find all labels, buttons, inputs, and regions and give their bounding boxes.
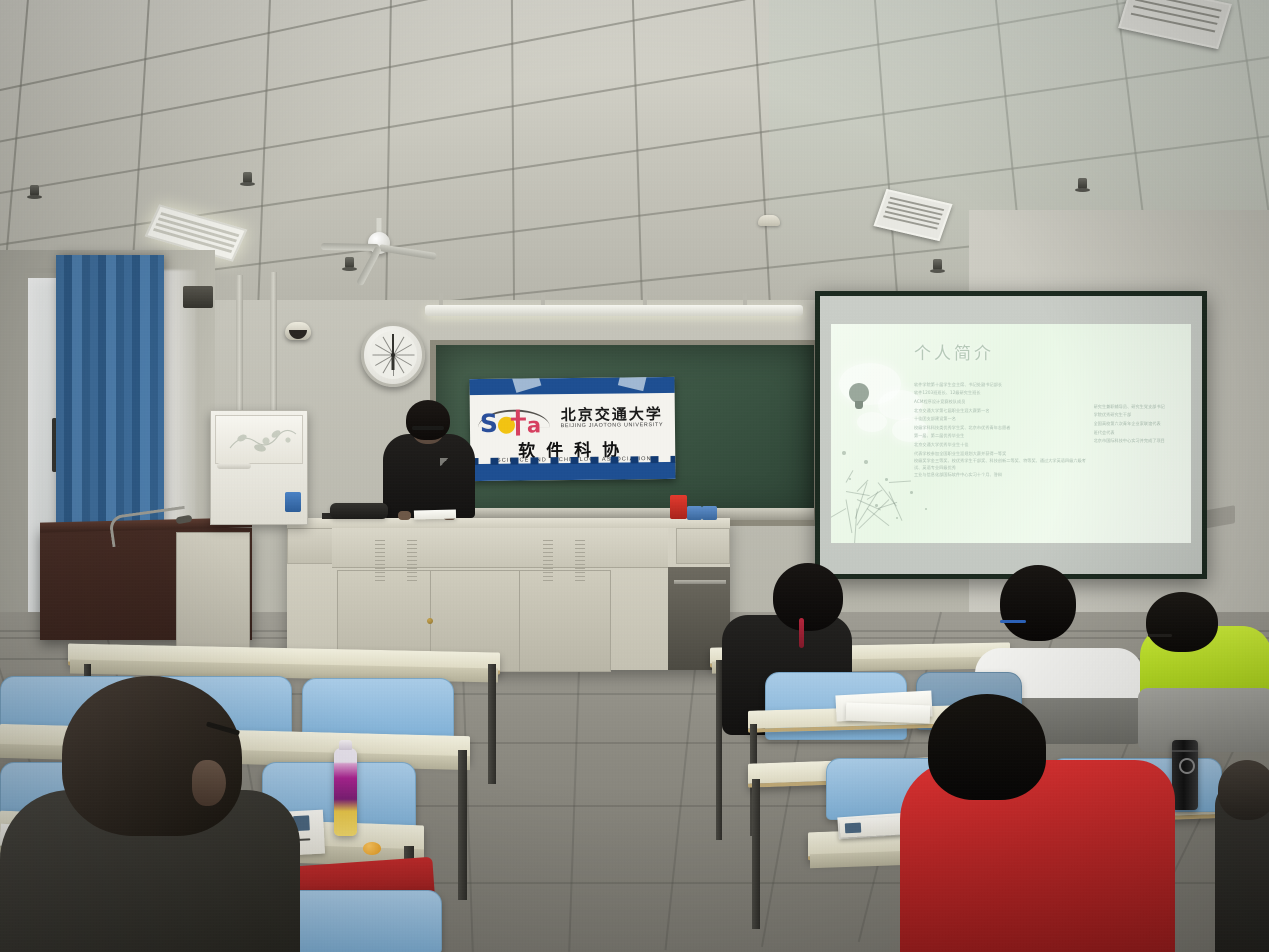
slide-bullet: 第一届、第二届优秀毕业生 bbox=[914, 432, 1086, 441]
slide-bullet: 软件1203班班长、12级研究生班长 bbox=[914, 389, 1086, 398]
bottle-cap bbox=[339, 740, 352, 750]
slide-bullets-right: 研究生兼职辅导员、研究生党支部书记学院优秀研究生干部全国高校第六次青年企业家联谊… bbox=[1094, 403, 1191, 446]
desk-leg bbox=[752, 779, 760, 929]
sota-logo: S a bbox=[480, 408, 546, 437]
podium-drawer[interactable] bbox=[676, 528, 730, 564]
smoke-detector bbox=[758, 215, 780, 226]
slide-bullets-left: 软件学院第十届学生会主席、书记处副书记部长软件1203班班长、12级研究生班长A… bbox=[914, 381, 1086, 480]
lecture-seat[interactable] bbox=[302, 678, 454, 740]
screen-surface: 个人简介 软件学院第十届学生会主席、书记处副书记部长软件1203班班长、12级研… bbox=[820, 296, 1202, 574]
classroom-photo: S a 北京交通大学 BEIJING JIAOTONG UNIVERSITY 软… bbox=[0, 0, 1269, 952]
podium-knob[interactable] bbox=[427, 618, 433, 624]
audience-head bbox=[773, 563, 843, 631]
sota-logo-s: S bbox=[480, 411, 498, 436]
orange-fruit bbox=[363, 842, 381, 855]
audience-head-foreground bbox=[62, 676, 242, 836]
sprinkler-head bbox=[243, 172, 252, 183]
desk-leg bbox=[488, 664, 496, 784]
projection-screen: 个人简介 软件学院第十届学生会主席、书记处副书记部长软件1203班班长、12级研… bbox=[815, 291, 1207, 579]
sprinkler-head bbox=[30, 185, 39, 196]
presenter-torso bbox=[383, 434, 475, 518]
banner-university-en: BEIJING JIAOTONG UNIVERSITY bbox=[552, 422, 672, 429]
slide-bullet: 班代会代表 bbox=[1094, 429, 1191, 438]
slide-bullet: 校级奖学金三等奖、校优秀学生干部奖、科技创新二等奖、特等奖、通过大学英语四级六级… bbox=[914, 458, 1086, 471]
teacher-podium bbox=[287, 518, 730, 670]
drink-bottle bbox=[334, 748, 357, 836]
desk-leg bbox=[458, 750, 467, 900]
slide-bullet: 工业与信息化部国际软件中心实习十个月、答辩 bbox=[914, 471, 1086, 480]
presenter-glasses-icon bbox=[412, 426, 444, 430]
audience-head bbox=[1218, 760, 1269, 820]
wall-pipe bbox=[236, 275, 243, 410]
event-banner: S a 北京交通大学 BEIJING JIAOTONG UNIVERSITY 软… bbox=[469, 377, 675, 481]
dome-camera-icon bbox=[285, 322, 311, 340]
podium-door[interactable] bbox=[519, 570, 611, 672]
slide-bullet: 北京市国际科技中心实习并完成了项目 bbox=[1094, 437, 1191, 446]
sota-logo-a: a bbox=[527, 415, 541, 436]
audience-ear bbox=[192, 760, 226, 806]
slide-bullet: 北京交通大学第七届职业生涯大赛第一名 bbox=[914, 407, 1086, 416]
audience-head bbox=[928, 694, 1046, 800]
slide-bullet: 研究生兼职辅导员、研究生党支部书记 bbox=[1094, 403, 1191, 412]
jacket-logo-icon bbox=[440, 458, 449, 466]
podium-papers bbox=[414, 509, 456, 519]
desk-brochure bbox=[840, 816, 903, 837]
lightbulb-icon bbox=[849, 383, 871, 409]
wall-pipe bbox=[270, 272, 277, 412]
slide-bullet: 十佳团支部建设第一名 bbox=[914, 415, 1086, 424]
wall-speaker-icon bbox=[183, 286, 213, 308]
red-cup bbox=[670, 495, 687, 519]
wall-clock bbox=[361, 323, 425, 387]
audience-glasses-icon bbox=[1148, 634, 1172, 637]
slide-title: 个人简介 bbox=[914, 339, 994, 364]
presenter-hand bbox=[398, 511, 411, 520]
blue-box bbox=[702, 506, 717, 520]
floral-pattern-icon bbox=[226, 424, 300, 456]
sota-logo-t bbox=[516, 410, 520, 436]
presenter-head bbox=[406, 400, 450, 440]
clock-minute-hand bbox=[392, 334, 394, 355]
blue-box bbox=[687, 506, 702, 520]
sprinkler-head bbox=[933, 259, 942, 270]
audience-torso-lower bbox=[1138, 688, 1269, 752]
audience-head bbox=[1000, 565, 1076, 641]
podium-bag bbox=[330, 503, 388, 519]
blackboard-light bbox=[425, 305, 803, 316]
wall-cabinet bbox=[210, 410, 308, 525]
banner-bottom-bar bbox=[470, 462, 675, 481]
slide-bullet: 全国高校第六次青年企业家联谊代表 bbox=[1094, 420, 1191, 429]
slide-bullet: ACM程序设计竞赛校队成员 bbox=[914, 398, 1086, 407]
thermos-bottle bbox=[1172, 740, 1198, 810]
desk-leg bbox=[716, 660, 722, 840]
sprinkler-head bbox=[1078, 178, 1087, 189]
clock-hour-hand bbox=[392, 355, 395, 370]
slide-bullet: 代表学校参加全国职业生涯规划大赛并获得一等奖 bbox=[914, 450, 1086, 459]
audience-head bbox=[1146, 592, 1218, 652]
sprinkler-head bbox=[345, 257, 354, 268]
energy-label bbox=[285, 492, 301, 512]
slide-bullet: 北京交通大学优秀毕业生十佳 bbox=[914, 441, 1086, 450]
slide-bullet: 学院优秀研究生干部 bbox=[1094, 411, 1191, 420]
lanyard bbox=[799, 618, 804, 648]
slide-bullet: 软件学院第十届学生会主席、书记处副书记部长 bbox=[914, 381, 1086, 390]
desk-papers bbox=[846, 703, 931, 724]
presentation-slide: 个人简介 软件学院第十届学生会主席、书记处副书记部长软件1203班班长、12级研… bbox=[831, 324, 1190, 544]
slide-bullet: 校级学科科技类优秀学生奖、北京市优秀青年志愿者 bbox=[914, 424, 1086, 433]
side-cabinet bbox=[176, 532, 250, 654]
audience-glasses-icon bbox=[1000, 620, 1026, 623]
